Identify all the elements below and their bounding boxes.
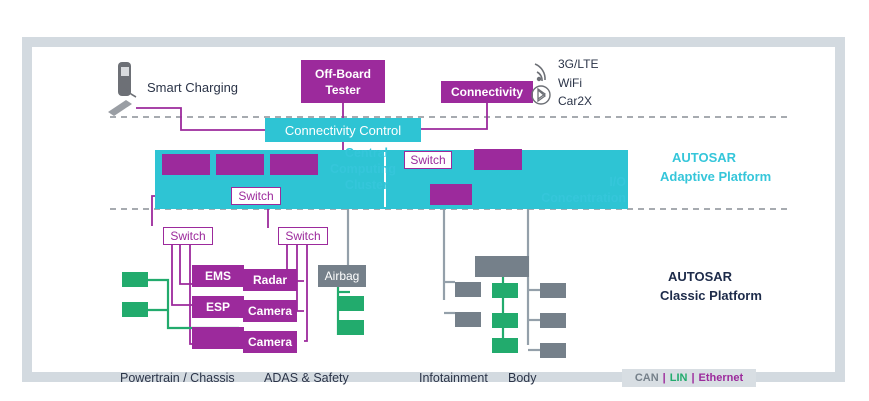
body-can-node-1[interactable]	[540, 283, 566, 298]
switch-left-label: Switch	[170, 229, 205, 243]
category-infotainment: Infotainment	[419, 371, 488, 385]
legend-separator-2: |	[691, 372, 694, 384]
switch-left[interactable]: Switch	[163, 227, 213, 245]
classic-title-1: AUTOSAR	[668, 267, 762, 286]
airbag-box[interactable]: Airbag	[318, 265, 366, 287]
camera-box-1[interactable]: Camera	[243, 300, 297, 322]
infotainment-node-2[interactable]	[455, 312, 481, 327]
powertrain-ecu-box[interactable]	[192, 327, 244, 349]
body-can-node-3[interactable]	[540, 343, 566, 358]
switch-right-label: Switch	[285, 229, 320, 243]
legend-lin: LIN	[670, 372, 688, 384]
ems-box[interactable]: EMS	[192, 265, 244, 287]
radar-box[interactable]: Radar	[243, 269, 297, 291]
wireless-label-car2x: Car2X	[558, 94, 592, 108]
legend-can: CAN	[635, 372, 659, 384]
powertrain-lin-node-2[interactable]	[122, 302, 148, 317]
wireless-label-wifi: WiFi	[558, 76, 582, 90]
category-powertrain: Powertrain / Chassis	[120, 371, 235, 385]
switch-right[interactable]: Switch	[278, 227, 328, 245]
body-lin-node-1[interactable]	[492, 283, 518, 298]
adaptive-title-2: Adaptive Platform	[660, 167, 771, 186]
classic-title-2: Classic Platform	[660, 286, 762, 305]
category-adas: ADAS & Safety	[264, 371, 349, 385]
camera-box-2[interactable]: Camera	[243, 331, 297, 353]
diagram-canvas: Connectivity Control Central Computing C…	[0, 0, 869, 401]
airbag-sensor-1[interactable]	[338, 296, 364, 311]
esp-box[interactable]: ESP	[192, 296, 244, 318]
legend-ethernet: Ethernet	[699, 372, 744, 384]
radar-label: Radar	[253, 273, 287, 287]
body-head-unit[interactable]	[475, 256, 529, 277]
body-lin-node-2[interactable]	[492, 313, 518, 328]
camera-2-label: Camera	[248, 335, 292, 349]
bus-legend: CAN | LIN | Ethernet	[622, 369, 756, 387]
powertrain-lin-node-1[interactable]	[122, 272, 148, 287]
bluetooth-icon	[532, 86, 550, 104]
wireless-label-3glte: 3G/LTE	[558, 57, 598, 71]
classic-platform-title: AUTOSAR Classic Platform	[660, 267, 762, 305]
infotainment-node-1[interactable]	[455, 282, 481, 297]
wireless-icons	[0, 0, 869, 401]
category-body: Body	[508, 371, 537, 385]
adaptive-platform-title: AUTOSAR Adaptive Platform	[660, 148, 771, 186]
ems-label: EMS	[205, 269, 231, 283]
airbag-sensor-2[interactable]	[338, 320, 364, 335]
body-can-node-2[interactable]	[540, 313, 566, 328]
camera-1-label: Camera	[248, 304, 292, 318]
adaptive-title-1: AUTOSAR	[672, 148, 771, 167]
antenna-icon	[535, 64, 545, 81]
legend-separator-1: |	[663, 372, 666, 384]
body-lin-node-3[interactable]	[492, 338, 518, 353]
airbag-label: Airbag	[325, 269, 360, 283]
esp-label: ESP	[206, 300, 230, 314]
